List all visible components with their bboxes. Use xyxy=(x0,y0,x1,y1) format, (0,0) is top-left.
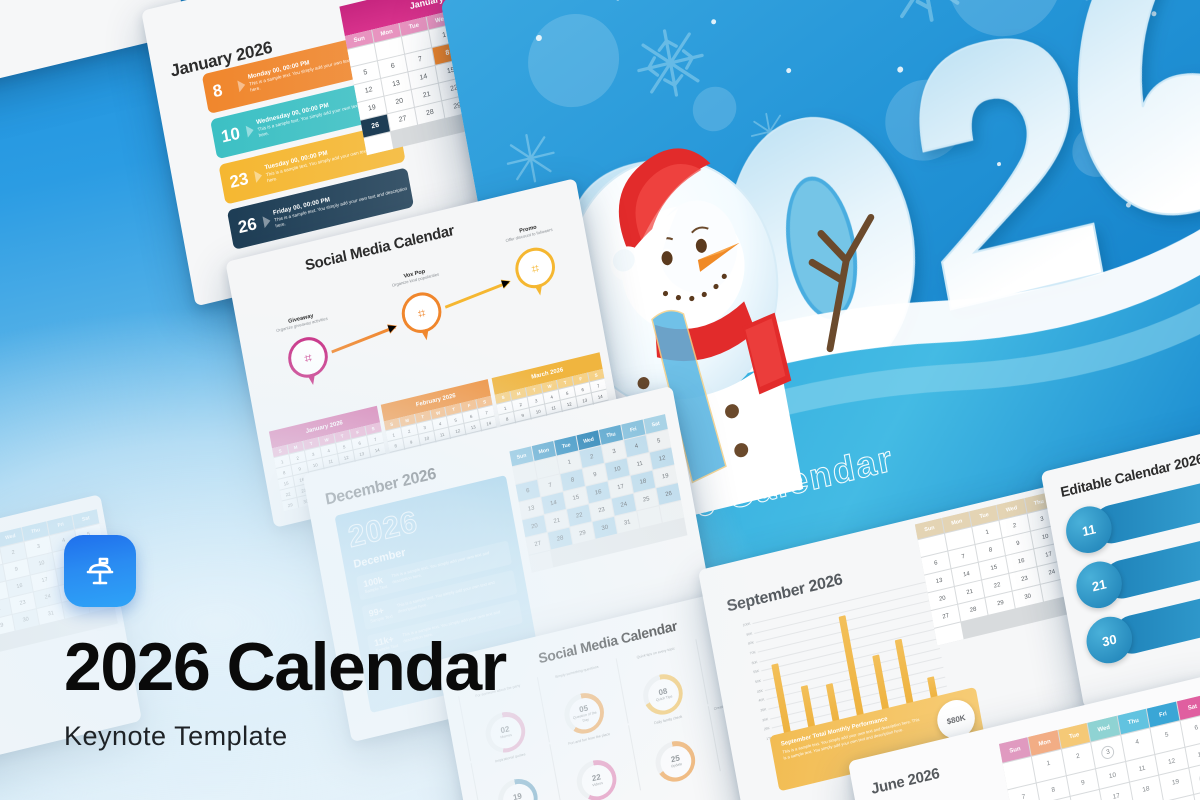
timeline-node-giveaway[interactable]: ⌗ xyxy=(285,333,331,382)
donut-chart: 05Question of the Day xyxy=(561,689,607,738)
timeline-node-promo[interactable]: ⌗ xyxy=(512,244,558,293)
chart-ytick: 25K xyxy=(764,726,771,731)
chart-bar xyxy=(801,685,816,729)
timeline-node-vox-pop[interactable]: ⌗ xyxy=(398,288,444,337)
calendar-day-cell[interactable] xyxy=(637,506,661,528)
circled-day: 3 xyxy=(1101,744,1116,760)
donut-chart: 19Quotes xyxy=(495,775,541,800)
title-block: 2026 Calendar Keynote Template xyxy=(64,535,506,752)
chart-ytick: 70K xyxy=(750,650,757,655)
donut-inner: 08Quick Tips xyxy=(646,675,682,713)
timeline-node-pin xyxy=(307,373,317,386)
january-event-day: 23 xyxy=(228,167,257,193)
january-event-day: 8 xyxy=(211,77,240,103)
chart-ytick: 55K xyxy=(753,669,760,674)
donut-note: Simply something questions xyxy=(542,662,611,683)
timeline-gift-icon: ⌗ xyxy=(303,350,312,365)
donut-label: Update xyxy=(671,762,683,769)
chart-bar xyxy=(872,655,889,712)
keynote-app-icon xyxy=(64,535,136,607)
june-slide-title: June 2026 xyxy=(870,765,941,798)
donut-chart: 25Update xyxy=(653,737,699,786)
donut-inner: 22Videos xyxy=(579,761,615,799)
calendar-day-cell[interactable] xyxy=(529,551,553,573)
donut-inner: 19Quotes xyxy=(500,780,536,800)
timeline-arrow xyxy=(445,281,510,309)
chart-bar xyxy=(839,615,864,717)
chart-ytick: 50K xyxy=(755,679,762,684)
calendar-day-cell[interactable]: 30 xyxy=(593,517,617,539)
january-event-day: 26 xyxy=(236,212,265,238)
chart-ytick: 90K xyxy=(746,631,753,636)
donut-chart: 08Quick Tips xyxy=(640,670,686,719)
donut-note: Quick tips on every topic xyxy=(621,643,690,664)
timeline-caption: Vox PopOrganize kind popularities xyxy=(369,261,460,293)
social-timeline-steps: ⌗GiveawayOrganize giveaway activities⌗Vo… xyxy=(259,227,586,386)
chart-ytick: 30K xyxy=(762,717,769,722)
arrow-icon xyxy=(246,124,255,137)
donut-number: 19 xyxy=(512,792,522,800)
chart-ytick: 60K xyxy=(751,660,758,665)
chart-ytick: 80K xyxy=(748,641,755,646)
poster-stage: January 2026 8Monday 00, 00:00 PMThis is… xyxy=(0,0,1200,800)
page-subtitle: Keynote Template xyxy=(64,721,506,752)
december-calendar-grid: SunMonTueWedThuFriSat 123456789101112131… xyxy=(509,414,687,572)
calendar-day-cell[interactable]: 28 xyxy=(548,528,572,550)
december-calendar: SunMonTueWedThuFriSat 123456789101112131… xyxy=(509,414,687,572)
timeline-caption: GiveawayOrganize giveaway activities xyxy=(256,305,347,337)
chart-ytick: 40K xyxy=(758,698,765,703)
arrow-icon xyxy=(237,79,246,92)
chart-ytick: 45K xyxy=(757,688,764,693)
page-title: 2026 Calendar xyxy=(64,633,506,701)
timeline-node-pin xyxy=(534,284,544,297)
donut-label: Question of the Day xyxy=(569,710,601,726)
chart-ytick: 35K xyxy=(760,707,767,712)
timeline-arrow xyxy=(331,326,396,354)
calendar-day-cell[interactable]: 29 xyxy=(282,498,298,511)
donut-chart: 22Videos xyxy=(574,756,620,800)
arrow-icon xyxy=(254,169,263,182)
calendar-day-cell[interactable] xyxy=(660,501,684,523)
january-event-day: 10 xyxy=(220,122,249,148)
chart-bar xyxy=(894,639,913,706)
chart-bar xyxy=(771,663,791,735)
timeline-tag-icon: ⌗ xyxy=(530,261,539,276)
timeline-caption: PromoOffer discount to followers xyxy=(483,216,574,248)
calendar-day-cell[interactable]: 29 xyxy=(570,522,594,544)
arrow-icon xyxy=(262,215,271,228)
chart-ytick: 100K xyxy=(742,622,750,628)
donut-inner: 25Update xyxy=(658,742,694,780)
donut-inner: 05Question of the Day xyxy=(567,694,603,732)
calendar-day-cell[interactable]: 31 xyxy=(615,512,639,534)
timeline-chat-icon: ⌗ xyxy=(417,305,426,320)
podium-icon xyxy=(79,550,121,592)
chart-bar xyxy=(826,683,840,723)
donut-label: Videos xyxy=(592,781,603,788)
timeline-node-pin xyxy=(421,328,431,341)
